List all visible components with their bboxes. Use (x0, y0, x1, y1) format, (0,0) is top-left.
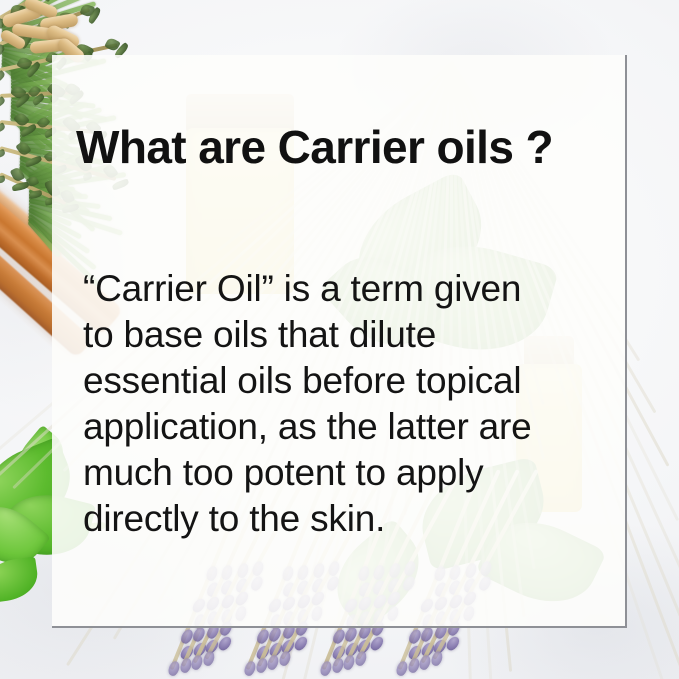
infographic-canvas: What are Carrier oils ? “Carrier Oil” is… (0, 0, 679, 679)
body-line: much too potent to apply (83, 450, 623, 496)
body-line: “Carrier Oil” is a term given (83, 266, 623, 312)
page-title: What are Carrier oils ? (76, 122, 636, 173)
body-line: directly to the skin. (83, 496, 623, 542)
lavender-bud-icon (202, 650, 217, 668)
lavender-bud-icon (167, 660, 182, 678)
body-line: to base oils that dilute (83, 312, 623, 358)
lavender-bud-icon (243, 660, 258, 678)
lavender-bud-icon (395, 660, 410, 678)
body-line: application, as the latter are (83, 404, 623, 450)
body-line: essential oils before topical (83, 358, 623, 404)
lavender-bud-icon (430, 650, 445, 668)
lavender-bud-icon (278, 650, 293, 668)
body-paragraph: “Carrier Oil” is a term givento base oil… (83, 266, 623, 542)
lavender-bud-icon (319, 660, 334, 678)
lavender-bud-icon (354, 650, 369, 668)
